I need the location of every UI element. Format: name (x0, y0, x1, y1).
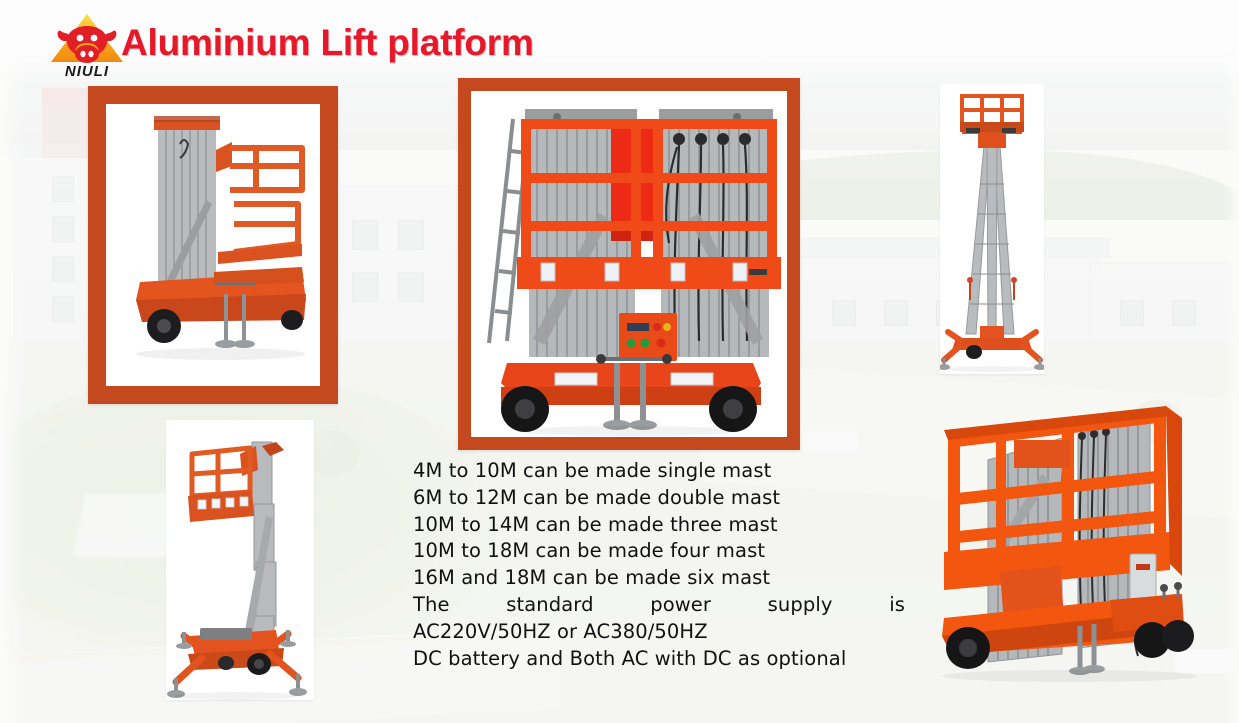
spec-line-7: AC220V/50HZ or AC380/50HZ (413, 619, 913, 646)
niuli-logo: NIULI (44, 12, 130, 78)
spec-line-2: 6M to 12M can be made double mast (413, 485, 913, 512)
machine-illustration (166, 420, 314, 700)
spec-word-standard: standard (506, 592, 593, 619)
background-window (398, 272, 424, 302)
background-window (884, 300, 908, 326)
spec-line-1: 4M to 10M can be made single mast (413, 458, 913, 485)
background-left-fade (0, 0, 26, 723)
photo-double-mast-front-view (471, 91, 787, 437)
background-window (832, 300, 856, 326)
background-car (802, 430, 860, 454)
photo-frame-single-mast-side[interactable] (88, 86, 338, 404)
machine-illustration (940, 84, 1044, 374)
specification-text-block: 4M to 10M can be made single mast 6M to … (413, 458, 913, 672)
photo-four-mast-angled[interactable] (930, 404, 1230, 714)
bull-head-triangle-icon: NIULI (44, 12, 130, 78)
logo-brand-text: NIULI (65, 63, 109, 78)
slide-header: NIULI Aluminium Lift platform (0, 0, 1239, 86)
machine-illustration (106, 104, 320, 386)
background-window (352, 272, 378, 302)
background-window (52, 256, 74, 282)
background-window (52, 176, 74, 202)
background-window (52, 216, 74, 242)
spec-line-3: 10M to 14M can be made three mast (413, 512, 913, 539)
background-window (52, 296, 74, 322)
spec-line-8: DC battery and Both AC with DC as option… (413, 646, 913, 673)
machine-illustration (471, 91, 787, 437)
machine-illustration (930, 404, 1230, 714)
photo-single-mast-raised[interactable] (166, 420, 314, 700)
spec-word-is: is (889, 592, 905, 619)
photo-double-mast-raised[interactable] (940, 84, 1044, 374)
background-window (398, 220, 424, 250)
photo-single-mast-side-view (106, 104, 320, 386)
spec-word-supply: supply (768, 592, 833, 619)
spec-word-the: The (413, 592, 450, 619)
spec-word-power: power (650, 592, 711, 619)
photo-frame-double-mast-front[interactable] (458, 78, 800, 450)
background-billboard (42, 88, 88, 158)
spec-line-4: 10M to 18M can be made four mast (413, 538, 913, 565)
background-window (1172, 300, 1196, 326)
background-window (352, 220, 378, 250)
spec-line-5: 16M and 18M can be made six mast (413, 565, 913, 592)
spec-line-6-justified: The standard power supply is (413, 592, 905, 619)
slide-canvas: NIULI Aluminium Lift platform (0, 0, 1239, 723)
page-title: Aluminium Lift platform (121, 22, 534, 64)
background-window (1120, 300, 1144, 326)
